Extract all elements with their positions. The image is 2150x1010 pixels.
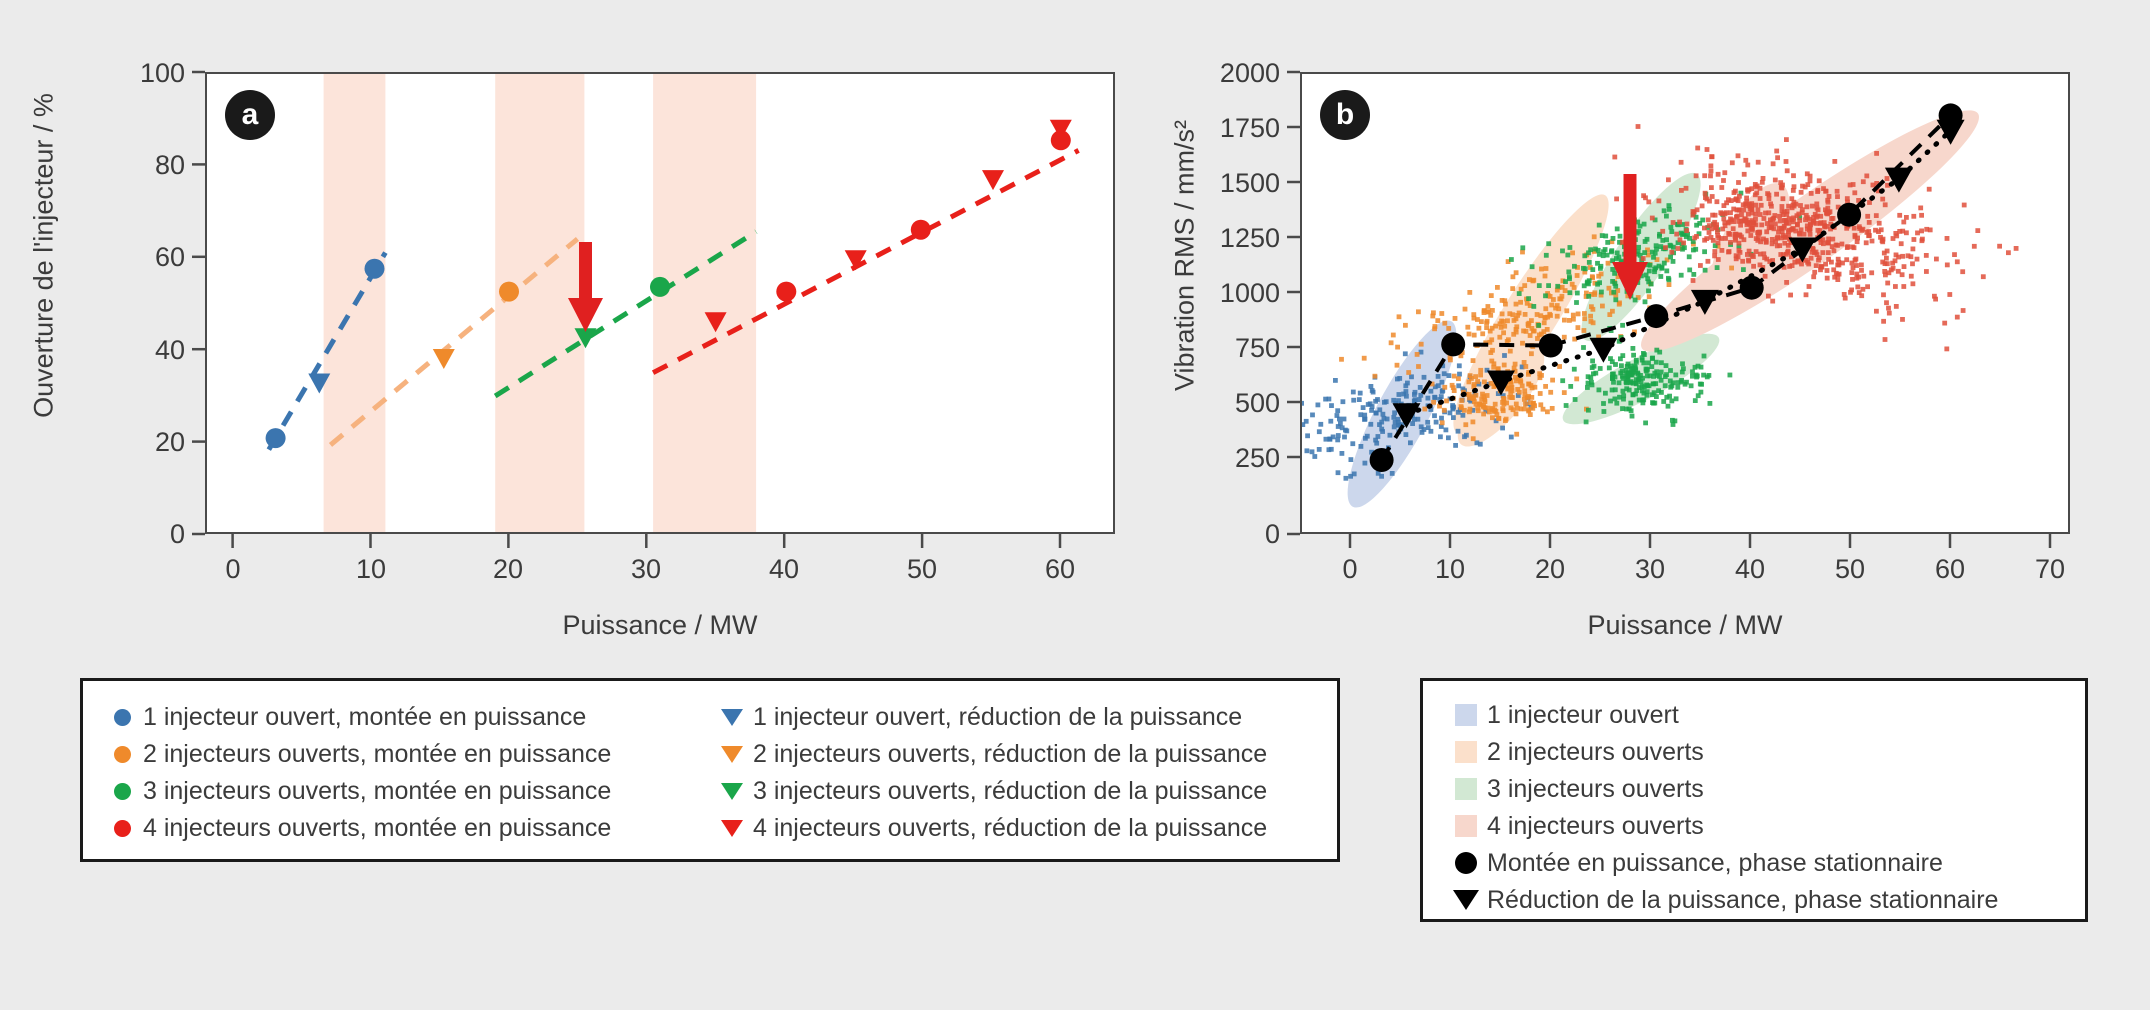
- plot-b-svg: [1302, 74, 2068, 532]
- legend-item[interactable]: Réduction de la puissance, phase station…: [1449, 882, 2085, 918]
- tick-a-x-50: 50: [877, 556, 967, 583]
- triangle-down-icon: [1449, 890, 1483, 910]
- tick-b-x-70: 70: [2005, 556, 2095, 583]
- legend-item[interactable]: 2 injecteurs ouverts, montée en puissanc…: [105, 736, 715, 772]
- data-point-red-triangle: [982, 170, 1004, 190]
- legend-item[interactable]: 3 injecteurs ouverts, montée en puissanc…: [105, 773, 715, 809]
- tick-a-x-40: 40: [739, 556, 829, 583]
- legend-item[interactable]: 1 injecteur ouvert, réduction de la puis…: [715, 699, 1267, 735]
- data-point-red-circle: [776, 282, 796, 302]
- legend-a-column-left: 1 injecteur ouvert, montée en puissance …: [105, 699, 715, 859]
- data-point-red-circle: [911, 220, 931, 240]
- triangle-down-icon: [715, 746, 749, 763]
- legend-item-label: 3 injecteurs ouverts, montée en puissanc…: [143, 777, 611, 806]
- tick-a-x-20: 20: [463, 556, 553, 583]
- tick-b-x-30: 30: [1605, 556, 1695, 583]
- legend-panel-a: 1 injecteur ouvert, montée en puissance …: [80, 678, 1340, 862]
- tick-b-x-0: 0: [1305, 556, 1395, 583]
- legend-item[interactable]: 1 injecteur ouvert: [1449, 697, 2085, 733]
- legend-panel-b: 1 injecteur ouvert 2 injecteurs ouverts …: [1420, 678, 2088, 922]
- data-point-orange-circle: [499, 282, 519, 302]
- legend-item[interactable]: 1 injecteur ouvert, montée en puissance: [105, 699, 715, 735]
- triangle-down-icon: [715, 783, 749, 800]
- legend-item-label: Montée en puissance, phase stationnaire: [1487, 849, 1943, 878]
- color-swatch-icon: [1449, 704, 1483, 726]
- legend-item-label: 1 injecteur ouvert: [1487, 701, 1679, 730]
- tick-b-x-10: 10: [1405, 556, 1495, 583]
- color-swatch-icon: [1449, 778, 1483, 800]
- tick-b-x-50: 50: [1805, 556, 1895, 583]
- circle-icon: [1449, 852, 1483, 874]
- legend-item-label: 2 injecteurs ouverts, réduction de la pu…: [753, 740, 1267, 769]
- plot-area-a: a: [205, 72, 1115, 534]
- legend-a-column-right: 1 injecteur ouvert, réduction de la puis…: [715, 699, 1267, 859]
- legend-item[interactable]: 3 injecteurs ouverts, réduction de la pu…: [715, 773, 1267, 809]
- y-axis-label-b: Vibration RMS / mm/s²: [1170, 46, 1201, 466]
- legend-item[interactable]: 2 injecteurs ouverts, réduction de la pu…: [715, 736, 1267, 772]
- tick-a-x-10: 10: [326, 556, 416, 583]
- cluster-ellipses: [1330, 86, 1997, 519]
- legend-item-label: 3 injecteurs ouverts: [1487, 775, 1704, 804]
- legend-item-label: 1 injecteur ouvert, montée en puissance: [143, 703, 586, 732]
- plot-area-b: b: [1300, 72, 2070, 534]
- circle-icon: [105, 709, 139, 726]
- tick-a-x-0: 0: [188, 556, 278, 583]
- triangle-down-icon: [715, 709, 749, 726]
- x-axis-label-a: Puissance / MW: [205, 610, 1115, 641]
- tick-b-x-40: 40: [1705, 556, 1795, 583]
- shaded-band-3: [653, 74, 756, 532]
- panel-b: 2000 1750 1500 1250 1000 750 500 250 0: [1150, 0, 2150, 660]
- x-axis-label-b: Puissance / MW: [1300, 610, 2070, 641]
- legend-item-label: 2 injecteurs ouverts: [1487, 738, 1704, 767]
- panel-label-a: a: [225, 90, 275, 140]
- figure-root: 100 80 60 40 20 0: [0, 0, 2150, 1010]
- legend-item[interactable]: 2 injecteurs ouverts: [1449, 734, 2085, 770]
- legend-item-label: 4 injecteurs ouverts, montée en puissanc…: [143, 814, 611, 843]
- legend-item-label: Réduction de la puissance, phase station…: [1487, 886, 1998, 915]
- y-axis-label-a: Ouverture de l'injecteur / %: [29, 46, 60, 466]
- data-point-blue-circle: [266, 428, 286, 448]
- legend-item[interactable]: Montée en puissance, phase stationnaire: [1449, 845, 2085, 881]
- legend-item-label: 4 injecteurs ouverts: [1487, 812, 1704, 841]
- legend-item[interactable]: 4 injecteurs ouverts, montée en puissanc…: [105, 810, 715, 846]
- legend-item[interactable]: 3 injecteurs ouverts: [1449, 771, 2085, 807]
- legend-item-label: 2 injecteurs ouverts, montée en puissanc…: [143, 740, 611, 769]
- data-point-blue-circle: [365, 259, 385, 279]
- panel-label-b: b: [1320, 90, 1370, 140]
- legend-item[interactable]: 4 injecteurs ouverts: [1449, 808, 2085, 844]
- tick-a-x-60: 60: [1015, 556, 1105, 583]
- color-swatch-icon: [1449, 815, 1483, 837]
- circle-icon: [105, 820, 139, 837]
- circle-icon: [105, 746, 139, 763]
- legend-item-label: 1 injecteur ouvert, réduction de la puis…: [753, 703, 1242, 732]
- plot-a-svg: [207, 74, 1113, 532]
- tick-b-x-20: 20: [1505, 556, 1595, 583]
- legend-item[interactable]: 4 injecteurs ouverts, réduction de la pu…: [715, 810, 1267, 846]
- color-swatch-icon: [1449, 741, 1483, 763]
- legend-item-label: 3 injecteurs ouverts, réduction de la pu…: [753, 777, 1267, 806]
- circle-icon: [105, 783, 139, 800]
- legend-item-label: 4 injecteurs ouverts, réduction de la pu…: [753, 814, 1267, 843]
- tick-a-x-30: 30: [601, 556, 691, 583]
- data-point-orange-triangle: [433, 349, 455, 369]
- triangle-down-icon: [715, 820, 749, 837]
- panel-a: 100 80 60 40 20 0: [0, 0, 1150, 660]
- tick-b-x-60: 60: [1905, 556, 1995, 583]
- data-point-green-circle: [650, 277, 670, 297]
